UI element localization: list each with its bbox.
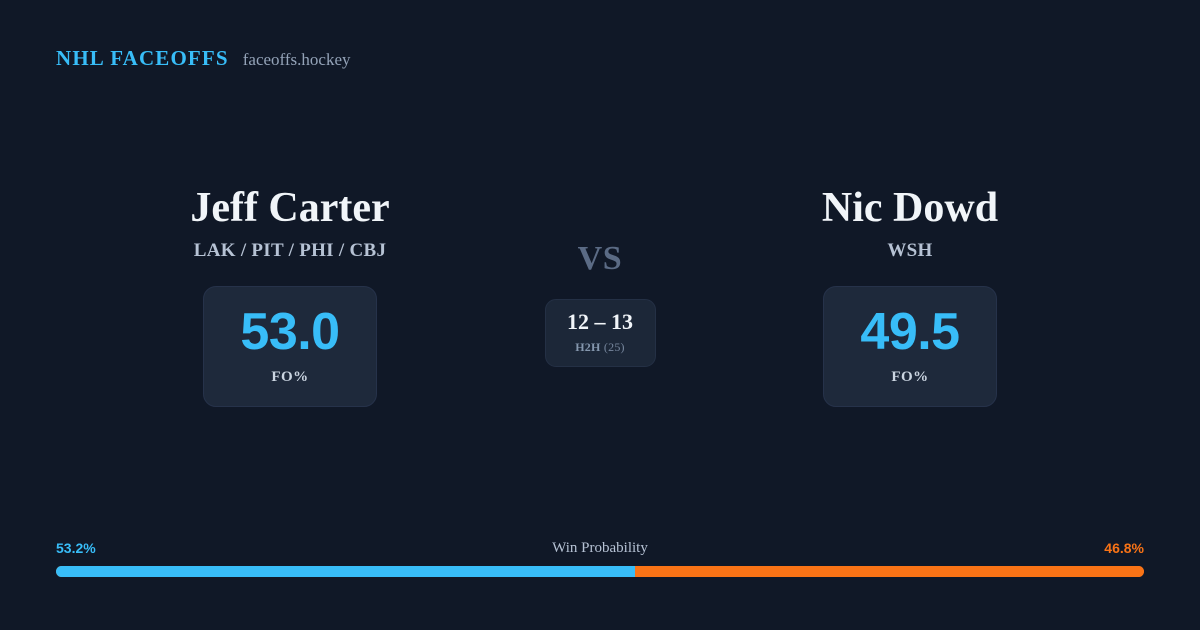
player-card-right[interactable]: Nic Dowd WSH 49.5 FO% (700, 186, 1120, 407)
win-probability-bar-left-segment (56, 566, 635, 577)
player-name-right: Nic Dowd (822, 186, 998, 231)
brand-header: NHL FACEOFFS faceoffs.hockey (56, 46, 351, 71)
player-card-left[interactable]: Jeff Carter LAK / PIT / PHI / CBJ 53.0 F… (80, 186, 500, 407)
versus-label: VS (578, 242, 623, 276)
matchup-card-canvas: NHL FACEOFFS faceoffs.hockey Jeff Carter… (0, 0, 1200, 630)
player-teams-right: WSH (887, 240, 932, 262)
head-to-head-score: 12 – 13 (567, 311, 633, 333)
win-probability-right-value: 46.8% (1104, 540, 1144, 556)
head-to-head-meta: H2H (25) (575, 340, 625, 355)
brand-title: NHL FACEOFFS (56, 46, 229, 71)
head-to-head-card: 12 – 13 H2H (25) (545, 299, 656, 367)
stat-label-left: FO% (271, 369, 308, 386)
player-name-left: Jeff Carter (190, 186, 389, 231)
player-teams-left: LAK / PIT / PHI / CBJ (194, 240, 387, 262)
stat-value-right: 49.5 (860, 306, 959, 358)
win-probability-section: 53.2% Win Probability 46.8% (56, 540, 1144, 577)
stat-card-left: 53.0 FO% (203, 286, 377, 407)
matchup-row: Jeff Carter LAK / PIT / PHI / CBJ 53.0 F… (0, 186, 1200, 407)
win-probability-left-value: 53.2% (56, 540, 96, 556)
stat-value-left: 53.0 (240, 306, 339, 358)
head-to-head-meta-count: (25) (604, 340, 625, 354)
win-probability-title: Win Probability (552, 540, 648, 557)
win-probability-labels: 53.2% Win Probability 46.8% (56, 540, 1144, 562)
brand-domain: faceoffs.hockey (243, 50, 351, 70)
head-to-head-meta-label: H2H (575, 340, 600, 354)
stat-label-right: FO% (891, 369, 928, 386)
win-probability-bar (56, 566, 1144, 577)
versus-column: VS 12 – 13 H2H (25) (500, 186, 700, 367)
win-probability-bar-right-segment (635, 566, 1144, 577)
stat-card-right: 49.5 FO% (823, 286, 997, 407)
